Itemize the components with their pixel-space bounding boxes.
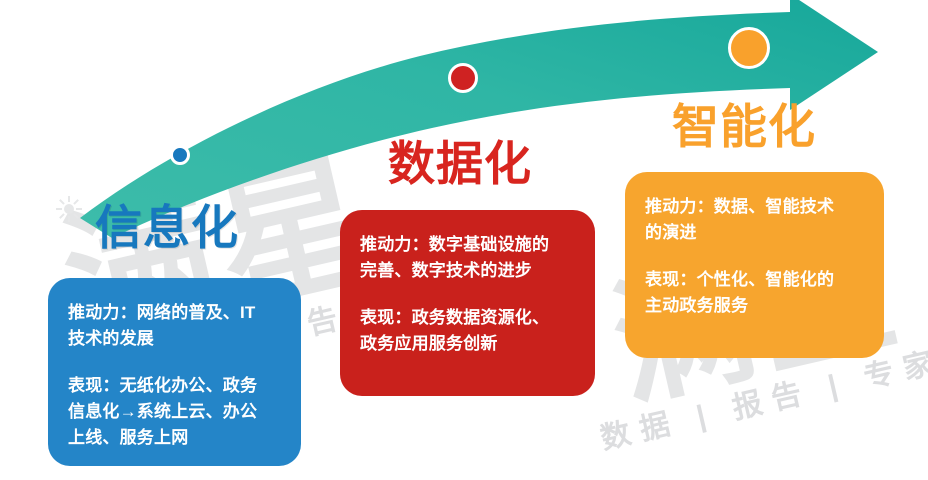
stage-card-informatization[interactable]: 推动力：网络的普及、IT 技术的发展 表现：无纸化办公、政务 信息化→系统上云、… [48, 278, 301, 466]
card-manifest-line: 上线、服务上网 [68, 425, 281, 451]
card-driver-line: 的演进 [645, 220, 864, 246]
stage-title-intelligence: 智能化 [672, 103, 816, 150]
card-driver-line: 推动力：数据、智能技术 [645, 194, 864, 220]
dot-datafication [448, 63, 478, 93]
card-manifest-line: 信息化→系统上云、办公 [68, 399, 281, 425]
card-manifest-line: 表现：个性化、智能化的 [645, 267, 864, 293]
card-driver-line: 推动力：网络的普及、IT [68, 300, 281, 326]
card-spacer [360, 285, 575, 305]
infographic-canvas: 满星 数据 | 报告 | 专家 满星 数据 | 报告 | 专家 [0, 0, 928, 480]
card-spacer [645, 247, 864, 267]
card-manifest-line: 表现：无纸化办公、政务 [68, 373, 281, 399]
stage-title-datafication: 数据化 [388, 140, 532, 187]
dot-intelligence [728, 27, 770, 69]
stage-card-intelligence[interactable]: 推动力：数据、智能技术 的演进 表现：个性化、智能化的 主动政务服务 [625, 172, 884, 358]
card-spacer [68, 353, 281, 373]
card-driver-line: 完善、数字技术的进步 [360, 258, 575, 284]
stage-card-datafication[interactable]: 推动力：数字基础设施的 完善、数字技术的进步 表现：政务数据资源化、 政务应用服… [340, 210, 595, 396]
card-manifest-line: 政务应用服务创新 [360, 331, 575, 357]
card-manifest-line: 表现：政务数据资源化、 [360, 305, 575, 331]
dot-informatization [170, 145, 190, 165]
stage-title-informatization: 信息化 [95, 204, 239, 251]
card-driver-line: 技术的发展 [68, 326, 281, 352]
card-driver-line: 推动力：数字基础设施的 [360, 232, 575, 258]
card-manifest-line: 主动政务服务 [645, 293, 864, 319]
